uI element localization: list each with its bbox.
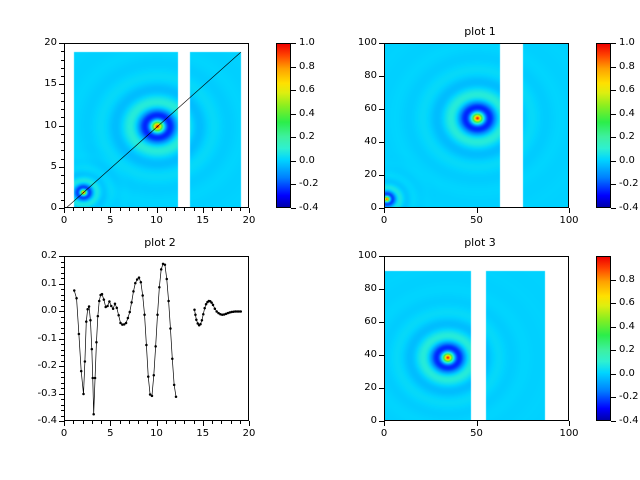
colorbar-tick-label: 0.4 xyxy=(619,109,635,119)
plot-area xyxy=(64,43,249,208)
y-major-tick xyxy=(59,311,64,312)
y-tick-label: 40 xyxy=(336,137,377,147)
colorbar xyxy=(596,256,611,421)
y-major-tick xyxy=(59,394,64,395)
x-tick-label: 20 xyxy=(229,216,269,226)
data-point xyxy=(210,301,213,304)
x-minor-tick xyxy=(101,421,102,424)
y-tick-label: 10 xyxy=(16,121,57,131)
y-tick-label: 0.0 xyxy=(16,306,57,316)
data-point xyxy=(201,319,204,322)
y-major-tick xyxy=(59,284,64,285)
x-minor-tick xyxy=(83,421,84,424)
colorbar-tick-label: 0.4 xyxy=(619,322,635,332)
y-minor-tick xyxy=(61,399,64,400)
y-minor-tick xyxy=(61,76,64,77)
x-major-tick xyxy=(477,421,478,426)
y-minor-tick xyxy=(61,410,64,411)
x-major-tick xyxy=(249,208,250,213)
x-minor-tick xyxy=(175,421,176,424)
y-major-tick xyxy=(59,339,64,340)
colorbar-tick xyxy=(611,208,616,209)
colorbar-gradient xyxy=(597,257,610,420)
y-minor-tick xyxy=(61,405,64,406)
x-minor-tick xyxy=(240,208,241,211)
data-point xyxy=(78,333,81,336)
colorbar-tick xyxy=(611,421,616,422)
y-minor-tick xyxy=(61,383,64,384)
colorbar-tick xyxy=(611,397,616,398)
x-minor-tick xyxy=(92,421,93,424)
y-major-tick xyxy=(59,43,64,44)
y-major-tick xyxy=(59,84,64,85)
line-series xyxy=(73,263,177,416)
diagonal-line xyxy=(65,52,241,208)
colorbar-tick xyxy=(291,137,296,138)
data-point xyxy=(205,303,208,306)
y-minor-tick xyxy=(61,183,64,184)
x-minor-tick xyxy=(221,421,222,424)
y-major-tick xyxy=(379,175,384,176)
x-tick-label: 0 xyxy=(364,216,404,226)
data-point xyxy=(103,298,106,301)
data-point xyxy=(125,322,128,325)
y-minor-tick xyxy=(61,344,64,345)
colorbar-tick xyxy=(611,161,616,162)
y-minor-tick xyxy=(61,192,64,193)
colorbar-tick xyxy=(611,374,616,375)
colorbar xyxy=(276,43,291,208)
y-minor-tick xyxy=(61,372,64,373)
x-tick-label: 20 xyxy=(229,429,269,439)
colorbar-tick-label: 0.8 xyxy=(299,62,315,72)
x-minor-tick xyxy=(147,421,148,424)
line-series xyxy=(193,300,242,327)
data-point xyxy=(134,282,137,285)
y-minor-tick xyxy=(61,350,64,351)
plot-area xyxy=(384,43,569,208)
colorbar xyxy=(596,43,611,208)
colorbar-tick xyxy=(611,280,616,281)
x-major-tick xyxy=(569,421,570,426)
data-point xyxy=(199,323,202,326)
colorbar-tick-label: 0.6 xyxy=(619,298,635,308)
data-point xyxy=(138,276,141,279)
overlay-line-layer xyxy=(65,44,249,208)
y-tick-label: 60 xyxy=(336,317,377,327)
y-minor-tick xyxy=(61,289,64,290)
data-point xyxy=(194,314,197,317)
colorbar-tick-label: 0.8 xyxy=(619,275,635,285)
x-major-tick xyxy=(157,421,158,426)
colorbar-tick-label: 0.2 xyxy=(619,132,635,142)
x-tick-label: 50 xyxy=(457,216,497,226)
y-major-tick xyxy=(59,208,64,209)
colorbar-tick-label: -0.2 xyxy=(299,179,319,189)
x-tick-label: 15 xyxy=(183,429,223,439)
data-point xyxy=(193,309,196,312)
x-major-tick xyxy=(64,421,65,426)
x-major-tick xyxy=(110,421,111,426)
colorbar-tick xyxy=(611,303,616,304)
x-major-tick xyxy=(569,208,570,213)
y-tick-label: 60 xyxy=(336,104,377,114)
y-minor-tick xyxy=(61,150,64,151)
data-point xyxy=(212,304,215,307)
data-point xyxy=(202,313,205,316)
colorbar-tick xyxy=(291,67,296,68)
x-major-tick xyxy=(384,421,385,426)
x-minor-tick xyxy=(184,421,185,424)
x-minor-tick xyxy=(221,208,222,211)
y-minor-tick xyxy=(61,388,64,389)
y-minor-tick xyxy=(61,200,64,201)
colorbar-tick xyxy=(291,184,296,185)
x-major-tick xyxy=(477,208,478,213)
y-tick-label: -0.3 xyxy=(16,389,57,399)
y-tick-label: 0 xyxy=(16,203,57,213)
colorbar-tick-label: -0.2 xyxy=(619,179,639,189)
colorbar-tick xyxy=(611,137,616,138)
y-minor-tick xyxy=(61,142,64,143)
y-minor-tick xyxy=(61,377,64,378)
data-point xyxy=(112,307,115,310)
data-point xyxy=(158,286,161,289)
y-tick-label: 0 xyxy=(336,416,377,426)
x-minor-tick xyxy=(194,421,195,424)
colorbar-tick-label: 0.6 xyxy=(299,85,315,95)
data-point xyxy=(166,278,169,281)
x-minor-tick xyxy=(138,421,139,424)
line-series-layer xyxy=(65,257,249,421)
subplot-top-right: plot 1 050100020406080100 -0.4-0.20.00.2… xyxy=(320,0,640,240)
data-point xyxy=(141,294,144,297)
x-minor-tick xyxy=(129,208,130,211)
y-major-tick xyxy=(379,142,384,143)
y-minor-tick xyxy=(61,322,64,323)
x-major-tick xyxy=(110,208,111,213)
x-tick-label: 10 xyxy=(137,216,177,226)
colorbar-tick-label: -0.4 xyxy=(619,416,639,426)
data-point xyxy=(164,263,167,266)
data-point xyxy=(153,374,156,377)
data-point xyxy=(95,341,98,344)
x-minor-tick xyxy=(194,208,195,211)
data-point xyxy=(97,315,100,318)
data-point xyxy=(94,377,97,380)
y-major-tick xyxy=(379,421,384,422)
data-point xyxy=(91,348,94,351)
x-minor-tick xyxy=(231,421,232,424)
colorbar-tick xyxy=(611,184,616,185)
data-point xyxy=(214,307,217,310)
x-minor-tick xyxy=(184,208,185,211)
colorbar-tick-label: 0.2 xyxy=(299,132,315,142)
x-minor-tick xyxy=(101,208,102,211)
colorbar-tick xyxy=(291,161,296,162)
subplot-title: plot 2 xyxy=(0,237,320,249)
colorbar-tick xyxy=(611,43,616,44)
colorbar-gradient xyxy=(277,44,290,207)
x-tick-label: 0 xyxy=(44,216,84,226)
data-point xyxy=(116,307,119,310)
data-point xyxy=(160,268,163,271)
y-tick-label: -0.4 xyxy=(16,416,57,426)
x-minor-tick xyxy=(120,208,121,211)
y-minor-tick xyxy=(61,267,64,268)
data-point xyxy=(151,395,154,398)
colorbar-tick-label: 0.6 xyxy=(619,85,635,95)
data-point xyxy=(175,395,178,398)
y-tick-label: 100 xyxy=(336,251,377,261)
colorbar-tick xyxy=(291,43,296,44)
subplot-bottom-right: plot 3 050100020406080100 -0.4-0.20.00.2… xyxy=(320,240,640,480)
x-major-tick xyxy=(203,421,204,426)
data-point xyxy=(89,319,92,322)
data-point xyxy=(203,307,206,310)
x-tick-label: 0 xyxy=(364,429,404,439)
data-point xyxy=(147,375,150,378)
x-minor-tick xyxy=(83,208,84,211)
data-point xyxy=(117,314,120,317)
colorbar-tick-label: 0.0 xyxy=(299,156,315,166)
y-tick-label: 20 xyxy=(336,383,377,393)
colorbar-tick xyxy=(611,67,616,68)
y-minor-tick xyxy=(61,51,64,52)
x-tick-label: 100 xyxy=(549,429,589,439)
x-minor-tick xyxy=(92,208,93,211)
x-minor-tick xyxy=(120,421,121,424)
y-minor-tick xyxy=(61,278,64,279)
y-major-tick xyxy=(59,366,64,367)
data-point xyxy=(167,300,170,303)
y-major-tick xyxy=(379,388,384,389)
x-minor-tick xyxy=(138,208,139,211)
colorbar-tick xyxy=(291,208,296,209)
data-point xyxy=(132,290,135,293)
data-point xyxy=(156,314,159,317)
subplot-title: plot 3 xyxy=(320,237,640,249)
y-major-tick xyxy=(59,126,64,127)
x-major-tick xyxy=(157,208,158,213)
x-tick-label: 100 xyxy=(549,216,589,226)
data-point xyxy=(127,317,129,320)
colorbar-tick xyxy=(291,90,296,91)
y-minor-tick xyxy=(61,60,64,61)
colorbar-tick-label: 0.0 xyxy=(619,369,635,379)
y-tick-label: -0.1 xyxy=(16,334,57,344)
data-point xyxy=(195,318,198,321)
colorbar-tick-label: -0.4 xyxy=(299,203,319,213)
colorbar-tick xyxy=(611,327,616,328)
y-tick-label: 5 xyxy=(16,162,57,172)
subplot-top-left: 0510152005101520 -0.4-0.20.00.20.40.60.8… xyxy=(0,0,320,240)
x-tick-label: 15 xyxy=(183,216,223,226)
data-point xyxy=(171,358,174,361)
x-tick-label: 50 xyxy=(457,429,497,439)
data-point xyxy=(130,301,133,304)
y-tick-label: 15 xyxy=(16,79,57,89)
overlay-line-layer xyxy=(385,44,569,208)
x-tick-label: 0 xyxy=(44,429,84,439)
y-tick-label: 20 xyxy=(16,38,57,48)
y-major-tick xyxy=(379,208,384,209)
y-major-tick xyxy=(379,109,384,110)
y-minor-tick xyxy=(61,175,64,176)
data-point xyxy=(114,303,117,306)
data-point xyxy=(92,413,95,416)
data-point xyxy=(106,305,109,308)
y-minor-tick xyxy=(61,328,64,329)
colorbar-gradient xyxy=(597,44,610,207)
x-minor-tick xyxy=(73,208,74,211)
x-minor-tick xyxy=(147,208,148,211)
data-point xyxy=(129,311,132,314)
data-point xyxy=(240,310,243,313)
data-point xyxy=(110,305,113,308)
plot-area xyxy=(384,256,569,421)
x-minor-tick xyxy=(175,208,176,211)
y-minor-tick xyxy=(61,159,64,160)
colorbar-tick xyxy=(291,114,296,115)
x-major-tick xyxy=(384,208,385,213)
y-tick-label: 0.1 xyxy=(16,279,57,289)
colorbar-tick-label: 1.0 xyxy=(299,38,315,48)
y-minor-tick xyxy=(61,134,64,135)
y-minor-tick xyxy=(61,93,64,94)
x-minor-tick xyxy=(166,208,167,211)
data-point xyxy=(73,289,76,292)
data-point xyxy=(84,360,87,363)
y-minor-tick xyxy=(61,117,64,118)
x-tick-label: 5 xyxy=(90,216,130,226)
colorbar-tick-label: 0.0 xyxy=(619,156,635,166)
data-point xyxy=(101,293,104,296)
subplot-bottom-left: plot 2 05101520-0.4-0.3-0.2-0.10.00.10.2 xyxy=(0,240,320,480)
data-point xyxy=(92,377,95,380)
data-point xyxy=(85,320,88,323)
y-minor-tick xyxy=(61,416,64,417)
x-major-tick xyxy=(249,421,250,426)
data-point xyxy=(98,300,101,303)
data-point xyxy=(154,345,157,348)
x-minor-tick xyxy=(240,421,241,424)
y-minor-tick xyxy=(61,101,64,102)
data-point xyxy=(86,308,89,311)
x-minor-tick xyxy=(129,421,130,424)
colorbar-tick-label: 0.4 xyxy=(299,109,315,119)
y-minor-tick xyxy=(61,295,64,296)
y-minor-tick xyxy=(61,361,64,362)
data-point xyxy=(173,384,176,387)
data-point xyxy=(88,305,91,308)
y-tick-label: 0 xyxy=(336,203,377,213)
y-major-tick xyxy=(379,355,384,356)
y-minor-tick xyxy=(61,262,64,263)
data-point xyxy=(80,370,83,373)
plot-area xyxy=(64,256,249,421)
x-tick-label: 5 xyxy=(90,429,130,439)
data-point xyxy=(143,314,146,317)
y-major-tick xyxy=(379,289,384,290)
colorbar-tick-label: 1.0 xyxy=(619,38,635,48)
y-minor-tick xyxy=(61,306,64,307)
y-major-tick xyxy=(59,167,64,168)
x-major-tick xyxy=(203,208,204,213)
y-tick-label: 80 xyxy=(336,71,377,81)
x-major-tick xyxy=(64,208,65,213)
y-major-tick xyxy=(379,322,384,323)
y-minor-tick xyxy=(61,273,64,274)
y-tick-label: 80 xyxy=(336,284,377,294)
colorbar-tick-label: -0.2 xyxy=(619,392,639,402)
y-major-tick xyxy=(59,256,64,257)
y-minor-tick xyxy=(61,68,64,69)
x-minor-tick xyxy=(231,208,232,211)
data-point xyxy=(75,297,78,300)
y-major-tick xyxy=(59,421,64,422)
y-tick-label: 40 xyxy=(336,350,377,360)
colorbar-tick-label: 0.2 xyxy=(619,345,635,355)
colorbar-tick-label: 0.8 xyxy=(619,62,635,72)
y-minor-tick xyxy=(61,333,64,334)
data-point xyxy=(82,393,85,396)
x-minor-tick xyxy=(166,421,167,424)
y-major-tick xyxy=(379,76,384,77)
y-major-tick xyxy=(379,256,384,257)
figure-canvas: 0510152005101520 -0.4-0.20.00.20.40.60.8… xyxy=(0,0,640,480)
y-tick-label: -0.2 xyxy=(16,361,57,371)
data-point xyxy=(140,281,143,284)
colorbar-tick-label: -0.4 xyxy=(619,203,639,213)
data-point xyxy=(145,344,148,347)
y-tick-label: 100 xyxy=(336,38,377,48)
y-minor-tick xyxy=(61,300,64,301)
y-minor-tick xyxy=(61,109,64,110)
overlay-line-layer xyxy=(385,257,569,421)
y-minor-tick xyxy=(61,355,64,356)
data-point xyxy=(136,278,139,281)
y-major-tick xyxy=(379,43,384,44)
x-tick-label: 10 xyxy=(137,429,177,439)
colorbar-tick xyxy=(611,350,616,351)
data-point xyxy=(108,300,111,303)
colorbar-tick xyxy=(611,90,616,91)
colorbar-tick xyxy=(611,114,616,115)
data-point xyxy=(169,327,172,330)
y-tick-label: 0.2 xyxy=(16,251,57,261)
x-minor-tick xyxy=(73,421,74,424)
y-tick-label: 20 xyxy=(336,170,377,180)
x-minor-tick xyxy=(212,421,213,424)
x-minor-tick xyxy=(212,208,213,211)
y-minor-tick xyxy=(61,317,64,318)
